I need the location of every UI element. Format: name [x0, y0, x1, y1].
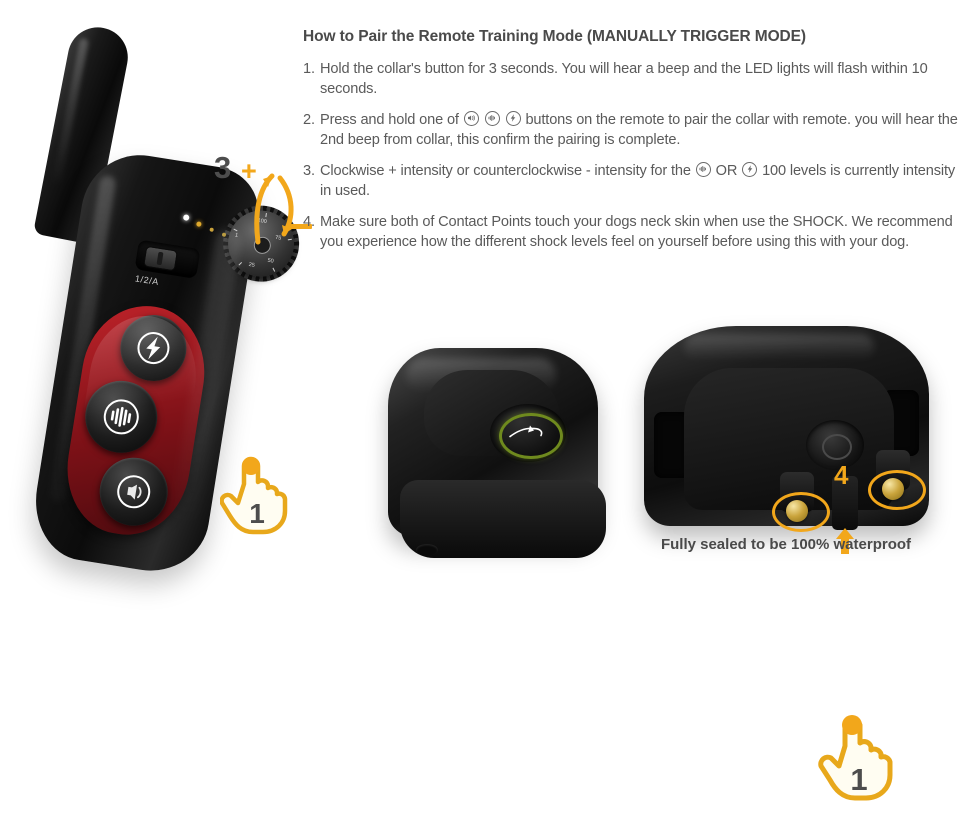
collar-body — [388, 348, 598, 538]
vibration-icon — [696, 162, 711, 177]
hand-pointer-callout-2: 1 — [220, 454, 294, 540]
shock-button[interactable] — [116, 310, 192, 386]
instruction-step-3: 3. Clockwise + intensity or counterclock… — [303, 162, 958, 202]
dial-label-50: 50 — [267, 258, 274, 265]
dial-tick — [238, 262, 242, 266]
step-text-pre: Press and hold one of — [320, 112, 459, 128]
led-indicator-white — [183, 214, 190, 221]
beep-button[interactable] — [95, 453, 173, 531]
highlight-ring-right — [868, 470, 926, 510]
channel-switch[interactable] — [135, 240, 201, 279]
step-text-mid: OR — [716, 163, 738, 179]
collar-top-shell — [424, 370, 560, 456]
collar-receiver-device: 1 — [378, 330, 613, 565]
channel-switch-label: 1/2/A — [134, 273, 159, 287]
contact-points-device: 4 Fully sealed to be 100% waterproof — [636, 322, 936, 537]
instruction-step-4: 4. Make sure both of Contact Points touc… — [303, 213, 958, 253]
collar-strap-slot — [416, 544, 438, 556]
hand-pointer-callout-1: 1 — [818, 712, 900, 808]
shock-icon — [742, 162, 757, 177]
step-text-pre: Clockwise + intensity or counterclockwis… — [320, 163, 691, 179]
instructions-panel: How to Pair the Remote Training Mode (MA… — [303, 28, 958, 264]
collar-logo-icon — [506, 422, 550, 444]
waterproof-caption: Fully sealed to be 100% waterproof — [636, 536, 936, 553]
button-bezel — [58, 297, 214, 543]
dial-tick — [272, 268, 275, 272]
step-number: 2. — [303, 111, 315, 131]
contact-device-body: 4 — [644, 326, 929, 526]
callout-number-4: 4 — [834, 460, 848, 491]
channel-switch-knob[interactable] — [143, 246, 178, 272]
step-text: Clockwise + intensity or counterclockwis… — [320, 162, 958, 202]
instruction-step-1: 1. Hold the collar's button for 3 second… — [303, 60, 958, 100]
shock-icon — [506, 111, 521, 126]
vibration-bars-icon — [100, 395, 143, 438]
highlight-ring-left — [772, 492, 830, 532]
step-number: 4. — [303, 213, 315, 233]
step-number: 1. — [303, 60, 315, 80]
step-number: 3. — [303, 162, 315, 182]
beep-ring-icon — [113, 471, 154, 512]
callout-number-1: 1 — [818, 762, 900, 798]
step-text: Make sure both of Contact Points touch y… — [320, 213, 958, 253]
instruction-step-2: 2. Press and hold one of buttons on the … — [303, 111, 958, 151]
remote-control-device: 100 75 50 25 1 1/2/A — [20, 18, 295, 588]
page-title: How to Pair the Remote Training Mode (MA… — [303, 28, 958, 46]
callout-number-2: 1 — [220, 498, 294, 530]
lightning-bolt-icon — [134, 329, 173, 368]
vibration-button[interactable] — [80, 376, 162, 458]
contact-device-back-panel: 4 — [684, 368, 894, 510]
vibration-icon — [485, 111, 500, 126]
beep-icon — [464, 111, 479, 126]
step-text: Press and hold one of buttons on the rem… — [320, 111, 958, 151]
led-indicator-amber-1 — [196, 221, 202, 227]
product-instruction-page: 100 75 50 25 1 1/2/A — [0, 0, 970, 600]
collar-power-button[interactable] — [490, 404, 566, 462]
dial-label-25: 25 — [248, 262, 255, 269]
step-text: Hold the collar's button for 3 seconds. … — [320, 60, 958, 100]
